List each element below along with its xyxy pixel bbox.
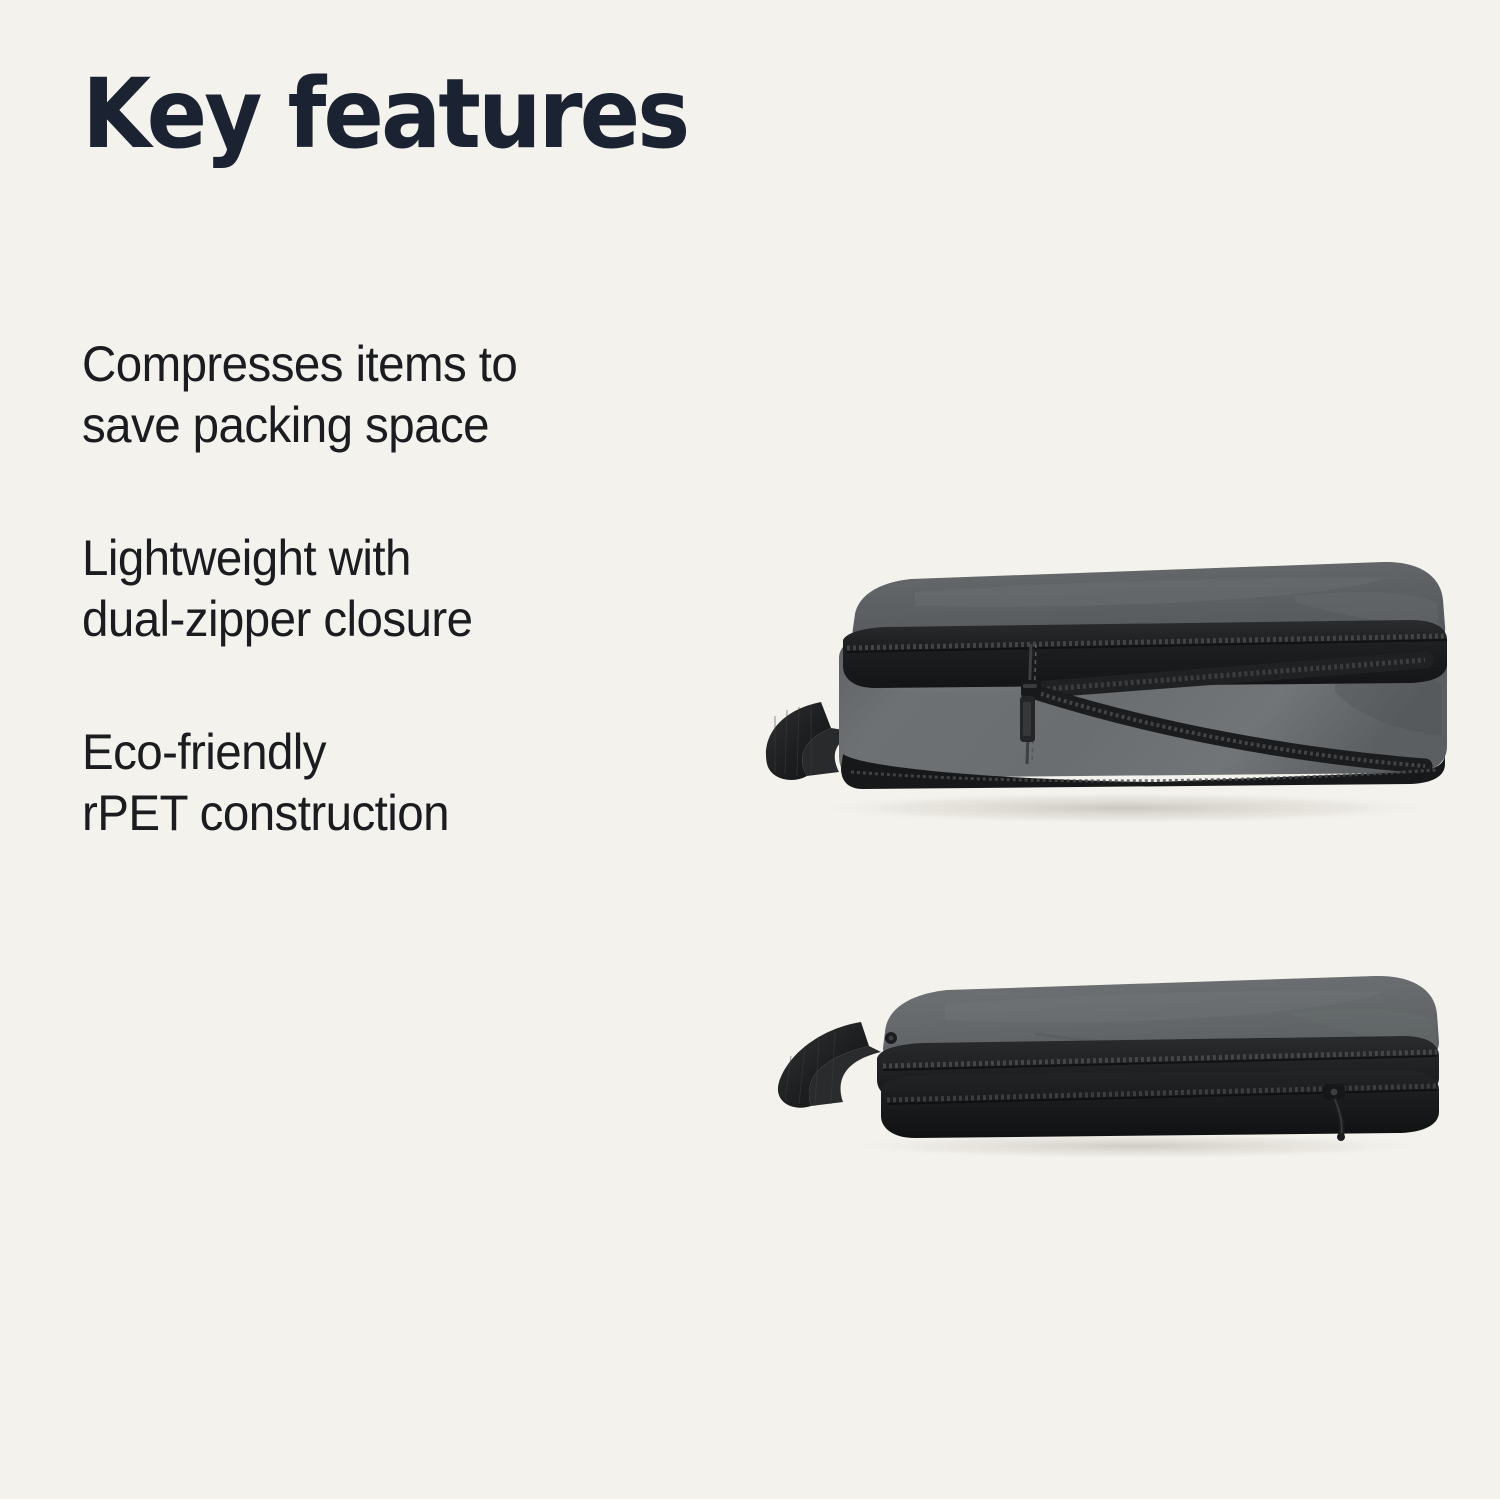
feature-list: Compresses items to save packing space L… (82, 334, 722, 844)
feature-line: Lightweight with (82, 528, 690, 589)
product-photo-expanded (735, 540, 1500, 830)
feature-line: Eco-friendly (82, 722, 690, 783)
product-image-column (735, 0, 1500, 1499)
feature-line: dual-zipper closure (82, 589, 690, 650)
product-shadow (805, 792, 1445, 824)
product-photo-compressed (735, 960, 1500, 1180)
zipper-slider-left[interactable] (885, 1032, 897, 1044)
feature-line: rPET construction (82, 783, 690, 844)
feature-item-compresses: Compresses items to save packing space (82, 334, 690, 456)
zipper-band-lower (881, 1070, 1439, 1138)
feature-line: Compresses items to (82, 334, 690, 395)
feature-item-lightweight: Lightweight with dual-zipper closure (82, 528, 690, 650)
webbing-handle (778, 1022, 881, 1108)
feature-line: save packing space (82, 395, 690, 456)
page-title: Key features (82, 66, 677, 164)
feature-item-eco-friendly: Eco-friendly rPET construction (82, 722, 690, 844)
key-features-panel: Key features Compresses items to save pa… (0, 0, 1500, 1499)
text-column: Key features Compresses items to save pa… (82, 66, 722, 844)
